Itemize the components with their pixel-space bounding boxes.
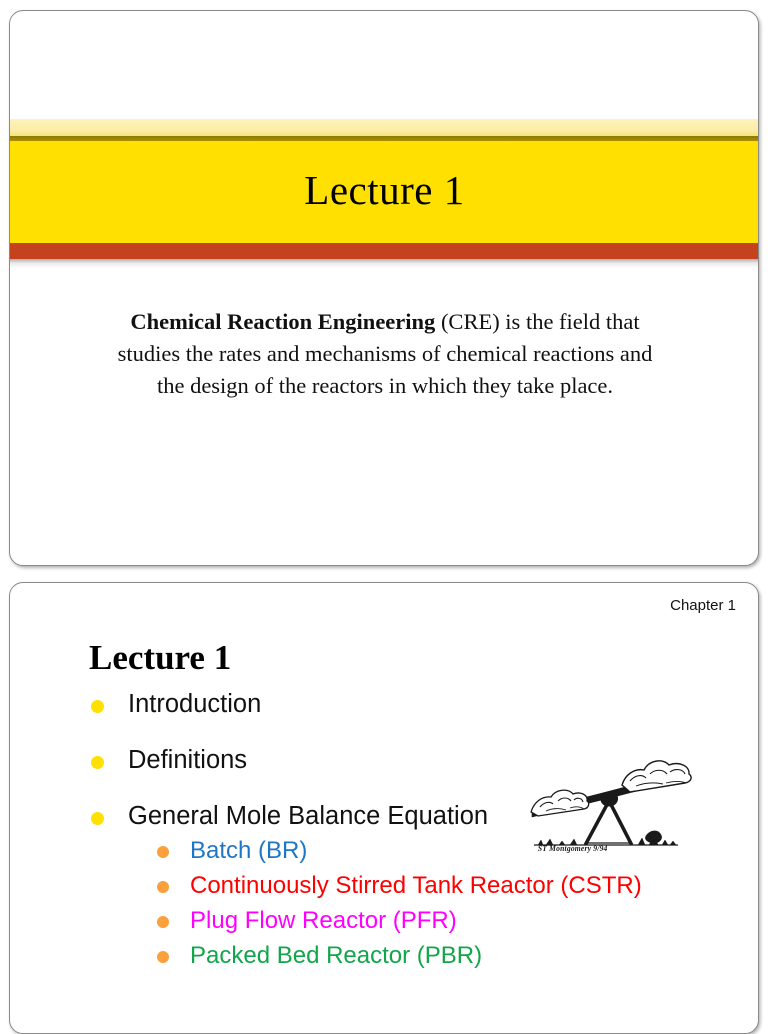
seesaw-sketch-icon: ST Montgomery 9/94 bbox=[518, 755, 698, 865]
reactor-item-label: Packed Bed Reactor (PBR) bbox=[190, 942, 482, 969]
banner-red-stripe bbox=[9, 243, 759, 259]
bullet-dot-icon bbox=[91, 756, 104, 769]
title-banner: Lecture 1 bbox=[9, 119, 759, 268]
slide-1-title: Lecture 1 bbox=[304, 170, 464, 215]
reactor-item-cstr: Continuously Stirred Tank Reactor (CSTR) bbox=[128, 873, 729, 899]
agenda-item-label: General Mole Balance Equation bbox=[128, 802, 488, 830]
sketch-signature: ST Montgomery 9/94 bbox=[538, 844, 608, 853]
sub-bullet-dot-icon bbox=[157, 846, 169, 858]
paragraph-bold-lead: Chemical Reaction Engineering bbox=[130, 309, 435, 334]
slide-1[interactable]: Lecture 1 Chemical Reaction Engineering … bbox=[9, 10, 759, 566]
bullet-dot-icon bbox=[91, 812, 104, 825]
reactor-item-pbr: Packed Bed Reactor (PBR) bbox=[128, 943, 729, 969]
agenda-item-label: Introduction bbox=[128, 690, 261, 718]
sub-bullet-dot-icon bbox=[157, 951, 169, 963]
chapter-label: Chapter 1 bbox=[670, 597, 736, 614]
banner-drop-shadow bbox=[9, 259, 759, 268]
slide-deck: Lecture 1 Chemical Reaction Engineering … bbox=[0, 0, 768, 1024]
banner-cream-stripe bbox=[9, 119, 759, 136]
agenda-item-label: Definitions bbox=[128, 746, 247, 774]
sub-bullet-dot-icon bbox=[157, 916, 169, 928]
banner-body: Lecture 1 bbox=[9, 141, 759, 243]
bullet-dot-icon bbox=[91, 700, 104, 713]
reactor-item-pfr: Plug Flow Reactor (PFR) bbox=[128, 908, 729, 934]
reactor-item-label: Batch (BR) bbox=[190, 837, 307, 864]
agenda-item-introduction: Introduction bbox=[89, 691, 729, 718]
slide-2-title: Lecture 1 bbox=[89, 640, 231, 675]
reactor-item-label: Plug Flow Reactor (PFR) bbox=[190, 907, 457, 934]
slide-1-paragraph: Chemical Reaction Engineering (CRE) is t… bbox=[115, 306, 655, 403]
reactor-item-label: Continuously Stirred Tank Reactor (CSTR) bbox=[190, 872, 642, 899]
sub-bullet-dot-icon bbox=[157, 881, 169, 893]
slide-2[interactable]: Chapter 1 Lecture 1 Introduction Definit… bbox=[9, 582, 759, 1034]
